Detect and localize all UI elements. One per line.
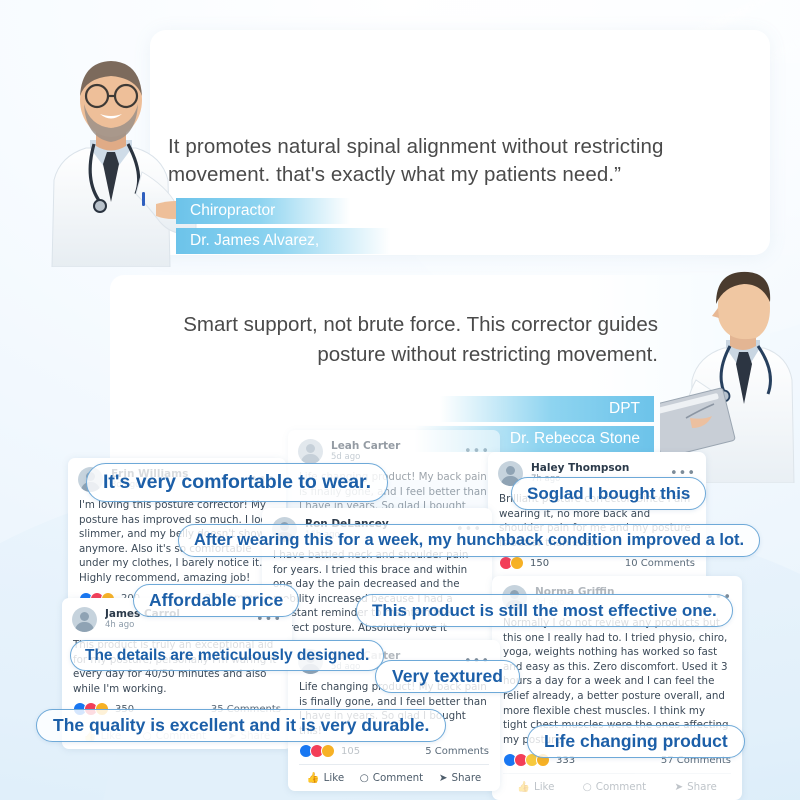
highlight-bubble-life: Life changing product — [527, 725, 745, 758]
wow-reaction-icon — [510, 556, 524, 570]
badge-role-dpt: DPT — [440, 396, 654, 422]
review-header: Leah Carter 5d ago ••• — [288, 430, 500, 467]
comment-count[interactable]: 10 Comments — [625, 558, 695, 569]
avatar — [72, 607, 97, 632]
comment-count[interactable]: 5 Comments — [425, 746, 489, 757]
avatar — [298, 439, 323, 464]
highlight-bubble-textured: Very textured — [375, 660, 520, 693]
highlight-bubble-effective: This product is still the most effective… — [356, 594, 733, 627]
review-meta: 105 5 Comments — [288, 742, 500, 764]
doctor-two-photo — [660, 268, 800, 483]
reaction-count: 105 — [341, 746, 360, 757]
reaction-count: 150 — [530, 558, 549, 569]
wow-reaction-icon — [321, 744, 335, 758]
highlight-bubble-hunchback: After wearing this for a week, my hunchb… — [178, 524, 760, 557]
share-label: Share — [687, 781, 717, 793]
thumbs-up-icon: 👍 — [307, 771, 320, 784]
share-arrow-icon: ➤ — [674, 781, 683, 793]
hero-quote-one: It promotes natural spinal alignment wit… — [168, 133, 733, 189]
review-meta: 150 10 Comments — [488, 554, 706, 576]
promo-banner: It promotes natural spinal alignment wit… — [0, 0, 800, 800]
review-actions: 👍Like ○Comment ➤Share — [503, 773, 731, 800]
review-time: 4h ago — [105, 620, 250, 631]
like-label: Like — [324, 772, 345, 784]
share-label: Share — [451, 772, 481, 784]
comment-label: Comment — [596, 781, 646, 793]
reaction-group[interactable]: 105 — [299, 744, 360, 758]
reviewer-name: Haley Thompson — [531, 462, 664, 474]
highlight-bubble-details: The details are meticulously designed. — [70, 640, 384, 671]
review-time: 5d ago — [331, 452, 458, 463]
comment-bubble-icon: ○ — [583, 781, 592, 793]
reviewer-name: Leah Carter — [331, 440, 458, 452]
share-button[interactable]: ➤Share — [674, 781, 716, 793]
badge-name-dr-alvarez: Dr. James Alvarez, — [176, 228, 390, 254]
thumbs-up-icon: 👍 — [517, 780, 530, 793]
comment-button[interactable]: ○Comment — [360, 772, 423, 784]
badge-role-chiropractor: Chiropractor — [176, 198, 350, 224]
reaction-group[interactable]: 150 — [499, 556, 549, 570]
highlight-bubble-quality: The quality is excellent and it is very … — [36, 709, 446, 742]
comment-button[interactable]: ○Comment — [583, 781, 646, 793]
highlight-bubble-affordable: Affordable price — [133, 584, 299, 617]
more-options-icon[interactable]: ••• — [458, 444, 490, 459]
review-actions: 👍Like ○Comment ➤Share — [299, 764, 489, 791]
share-button[interactable]: ➤Share — [439, 772, 481, 784]
like-button[interactable]: 👍Like — [517, 780, 554, 793]
highlight-bubble-soglad: Soglad I bought this — [511, 477, 706, 510]
hero-quote-two: Smart support, not brute force. This cor… — [128, 310, 658, 370]
like-label: Like — [534, 781, 555, 793]
share-arrow-icon: ➤ — [439, 772, 448, 784]
highlight-bubble-comfortable: It's very comfortable to wear. — [86, 463, 388, 502]
comment-bubble-icon: ○ — [360, 772, 369, 784]
like-button[interactable]: 👍Like — [307, 771, 344, 784]
comment-label: Comment — [373, 772, 423, 784]
